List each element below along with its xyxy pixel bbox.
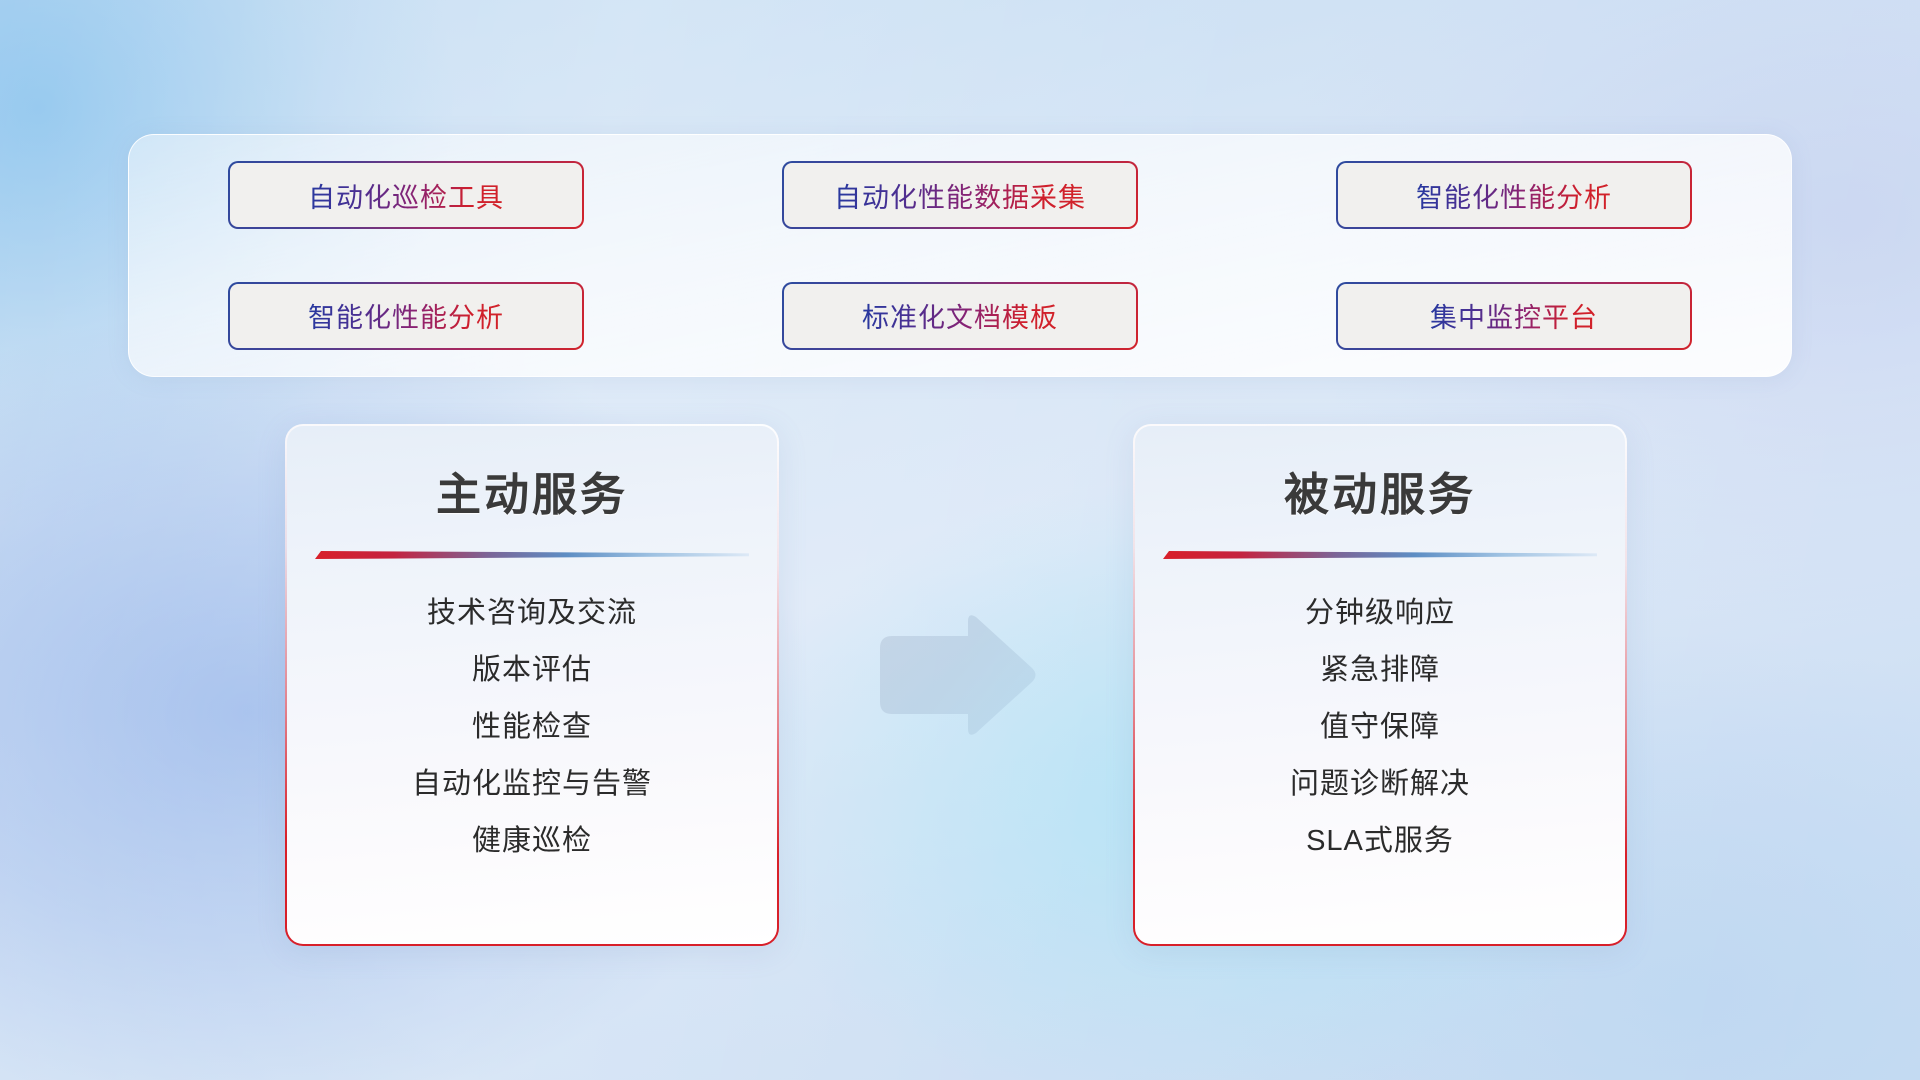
capability-tag[interactable]: 标准化文档模板 bbox=[782, 282, 1138, 350]
service-item: 分钟级响应 bbox=[1135, 595, 1625, 632]
capability-panel: 自动化巡检工具 自动化性能数据采集 智能化性能分析 智能化性能分析 标准化文档模… bbox=[128, 134, 1792, 377]
service-item: 版本评估 bbox=[287, 652, 777, 689]
capability-tag[interactable]: 集中监控平台 bbox=[1336, 282, 1692, 350]
capability-tag-label: 智能化性能分析 bbox=[1416, 176, 1612, 215]
capability-tag-label: 智能化性能分析 bbox=[308, 296, 504, 335]
capability-tag-label: 自动化性能数据采集 bbox=[834, 176, 1086, 215]
service-item: 自动化监控与告警 bbox=[287, 766, 777, 803]
title-divider bbox=[315, 549, 749, 561]
capability-tag[interactable]: 自动化性能数据采集 bbox=[782, 161, 1138, 229]
card-title: 被动服务 bbox=[1135, 458, 1625, 523]
reactive-service-item-list: 分钟级响应 紧急排障 值守保障 问题诊断解决 SLA式服务 bbox=[1135, 595, 1625, 861]
reactive-service-card: 被动服务 分钟级响应 紧急排障 值守保障 问题诊断解决 SLA式服务 bbox=[1133, 424, 1627, 946]
service-item: 值守保障 bbox=[1135, 709, 1625, 746]
capability-tag[interactable]: 自动化巡检工具 bbox=[228, 161, 584, 229]
title-divider bbox=[1163, 549, 1597, 561]
service-item: 问题诊断解决 bbox=[1135, 766, 1625, 803]
capability-tag-label: 自动化巡检工具 bbox=[308, 176, 504, 215]
proactive-service-item-list: 技术咨询及交流 版本评估 性能检查 自动化监控与告警 健康巡检 bbox=[287, 595, 777, 861]
service-item: 紧急排障 bbox=[1135, 652, 1625, 689]
proactive-service-card: 主动服务 技术咨询及交流 版本评估 性能检查 自动化监控与告警 健康巡检 bbox=[285, 424, 779, 946]
capability-tag[interactable]: 智能化性能分析 bbox=[1336, 161, 1692, 229]
arrow-right-icon bbox=[872, 610, 1042, 740]
card-title: 主动服务 bbox=[287, 458, 777, 523]
capability-tag[interactable]: 智能化性能分析 bbox=[228, 282, 584, 350]
service-item: 性能检查 bbox=[287, 709, 777, 746]
capability-tag-label: 标准化文档模板 bbox=[862, 296, 1058, 335]
capability-tag-label: 集中监控平台 bbox=[1430, 296, 1598, 335]
service-item: 技术咨询及交流 bbox=[287, 595, 777, 632]
service-item: SLA式服务 bbox=[1135, 823, 1625, 860]
service-item: 健康巡检 bbox=[287, 823, 777, 860]
